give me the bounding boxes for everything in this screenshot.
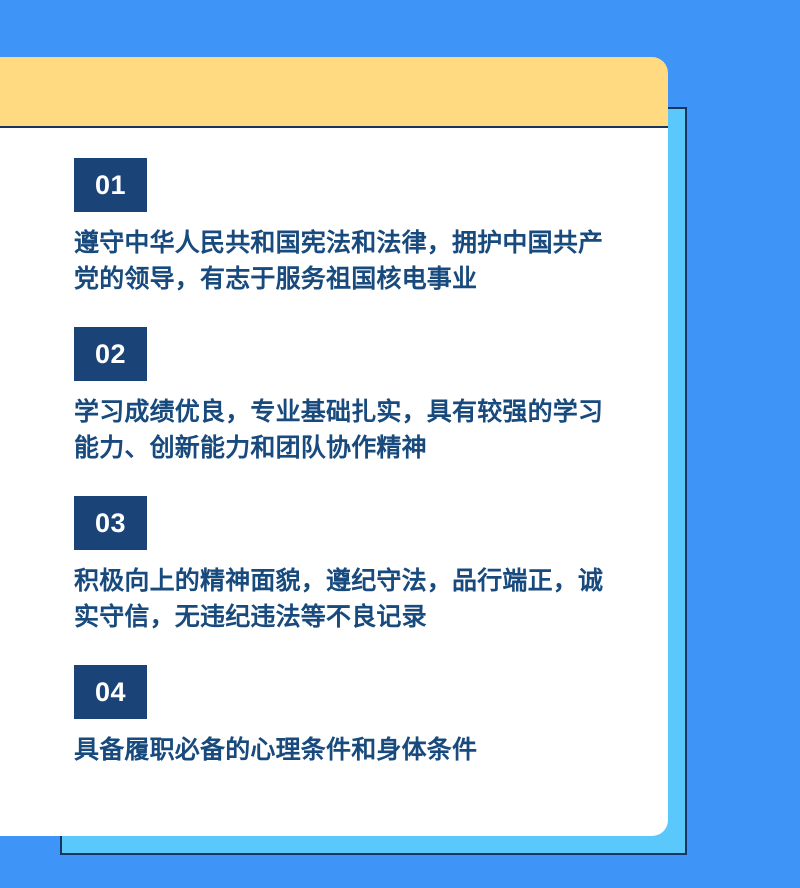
requirements-card: 01 遵守中华人民共和国宪法和法律，拥护中国共产党的领导，有志于服务祖国核电事业… bbox=[0, 128, 668, 836]
list-item: 02 学习成绩优良，专业基础扎实，具有较强的学习能力、创新能力和团队协作精神 bbox=[74, 327, 634, 466]
item-number-badge: 04 bbox=[74, 665, 147, 719]
list-item: 01 遵守中华人民共和国宪法和法律，拥护中国共产党的领导，有志于服务祖国核电事业 bbox=[74, 158, 634, 297]
item-number-badge: 03 bbox=[74, 496, 147, 550]
requirements-list: 01 遵守中华人民共和国宪法和法律，拥护中国共产党的领导，有志于服务祖国核电事业… bbox=[74, 158, 634, 769]
item-text: 具备履职必备的心理条件和身体条件 bbox=[74, 733, 626, 769]
list-item: 03 积极向上的精神面貌，遵纪守法，品行端正，诚实守信，无违纪违法等不良记录 bbox=[74, 496, 634, 635]
poster-canvas: 01 遵守中华人民共和国宪法和法律，拥护中国共产党的领导，有志于服务祖国核电事业… bbox=[0, 0, 800, 888]
item-text: 遵守中华人民共和国宪法和法律，拥护中国共产党的领导，有志于服务祖国核电事业 bbox=[74, 226, 626, 297]
item-text: 积极向上的精神面貌，遵纪守法，品行端正，诚实守信，无违纪违法等不良记录 bbox=[74, 564, 626, 635]
item-number-badge: 02 bbox=[74, 327, 147, 381]
list-item: 04 具备履职必备的心理条件和身体条件 bbox=[74, 665, 634, 769]
header-banner bbox=[0, 57, 668, 128]
item-text: 学习成绩优良，专业基础扎实，具有较强的学习能力、创新能力和团队协作精神 bbox=[74, 395, 626, 466]
item-number-badge: 01 bbox=[74, 158, 147, 212]
